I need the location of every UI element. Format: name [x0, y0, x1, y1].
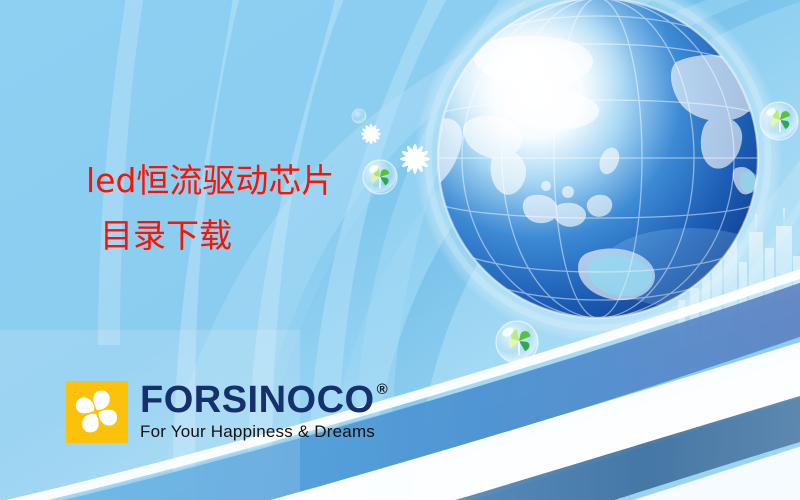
registered-trademark-symbol: ®	[377, 382, 388, 397]
pinwheel-flower-icon	[66, 381, 128, 443]
slide-canvas: led恒流驱动芯片 目录下载 FORSINOCO ® For Your Happ…	[0, 0, 800, 500]
bubble-pinwheel-right	[760, 102, 798, 140]
company-logo[interactable]: FORSINOCO ® For Your Happiness & Dreams	[66, 381, 388, 443]
logo-wordmark-row: FORSINOCO ®	[140, 381, 388, 419]
bubble-plain-small	[352, 109, 366, 123]
pinwheel-flower-glyph	[66, 381, 128, 443]
logo-tagline: For Your Happiness & Dreams	[140, 422, 388, 442]
bubble-pinwheel-left	[363, 160, 397, 194]
logo-wordmark: FORSINOCO	[140, 381, 375, 419]
logo-text-block: FORSINOCO ® For Your Happiness & Dreams	[140, 381, 388, 442]
